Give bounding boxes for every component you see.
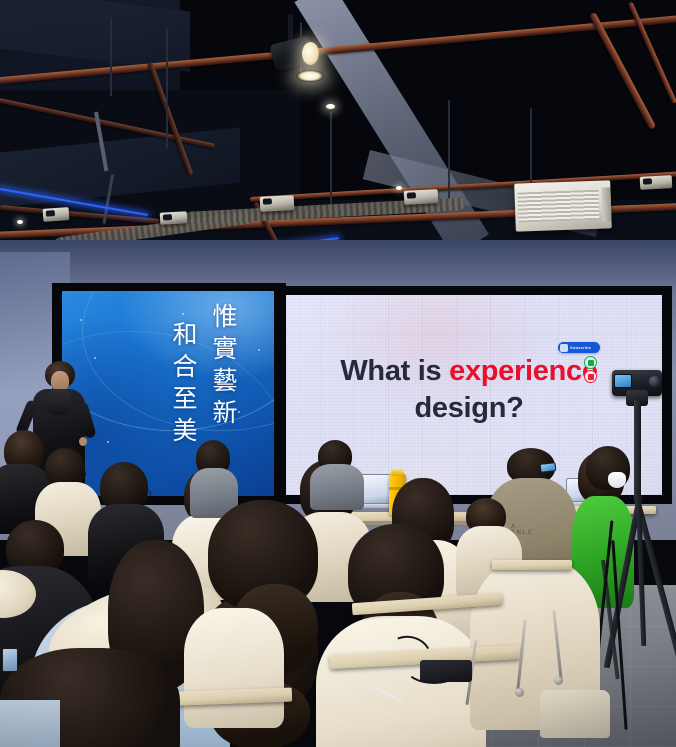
desk [492,560,572,570]
chair-caster [515,688,524,697]
ceiling-rod [448,100,450,200]
slide-text-line2: design? [286,390,652,427]
record-icon[interactable] [584,370,597,383]
ceiling-projector [404,189,439,205]
chair-caster [554,676,563,685]
calligraphy-column-2: 和合至美 [170,321,196,449]
ceiling-projector [160,211,188,224]
play-icon [560,344,568,352]
glasses [73,470,86,478]
subscribe-label: Subscribe [570,345,591,350]
smartphone [2,648,18,672]
smartphone [540,462,557,473]
ceiling-downlight [396,186,402,190]
ceiling-rod [110,18,112,96]
glasses [136,490,151,499]
ceiling-downlight [326,104,335,109]
camera-lcd [614,374,632,388]
face-mask [608,472,626,488]
presenter-hand-right [79,437,87,446]
slide-text-highlight: experience [449,355,598,387]
lecture-hall-photo: 惟實藝新 和合至美 What is experience design? Sub… [0,0,676,747]
left-led-screen: 惟實藝新 和合至美 [62,291,274,496]
ceiling-rod [166,28,168,148]
calligraphy-column-1: 惟實藝新 [210,303,236,431]
coat [184,608,284,728]
coat [310,464,364,510]
presenter-scarf [47,389,71,415]
ceiling-projector [43,207,70,222]
subscribe-button[interactable]: Subscribe [558,342,600,353]
tripod-column [634,400,641,500]
wechat-icon[interactable] [584,356,597,369]
ceiling-rod [330,112,332,212]
slide-text-part1: What is [340,355,449,387]
cable [404,648,464,684]
ceiling-projector [640,175,673,190]
camera-lens [649,376,660,387]
hvac-vent [514,180,612,231]
slide-headline: What is experience design? [286,353,652,427]
coat [0,700,60,747]
ceiling-projector [260,195,295,212]
ceiling-downlight [17,220,23,224]
tote-bag [540,690,610,738]
ceiling-panel [0,0,190,72]
